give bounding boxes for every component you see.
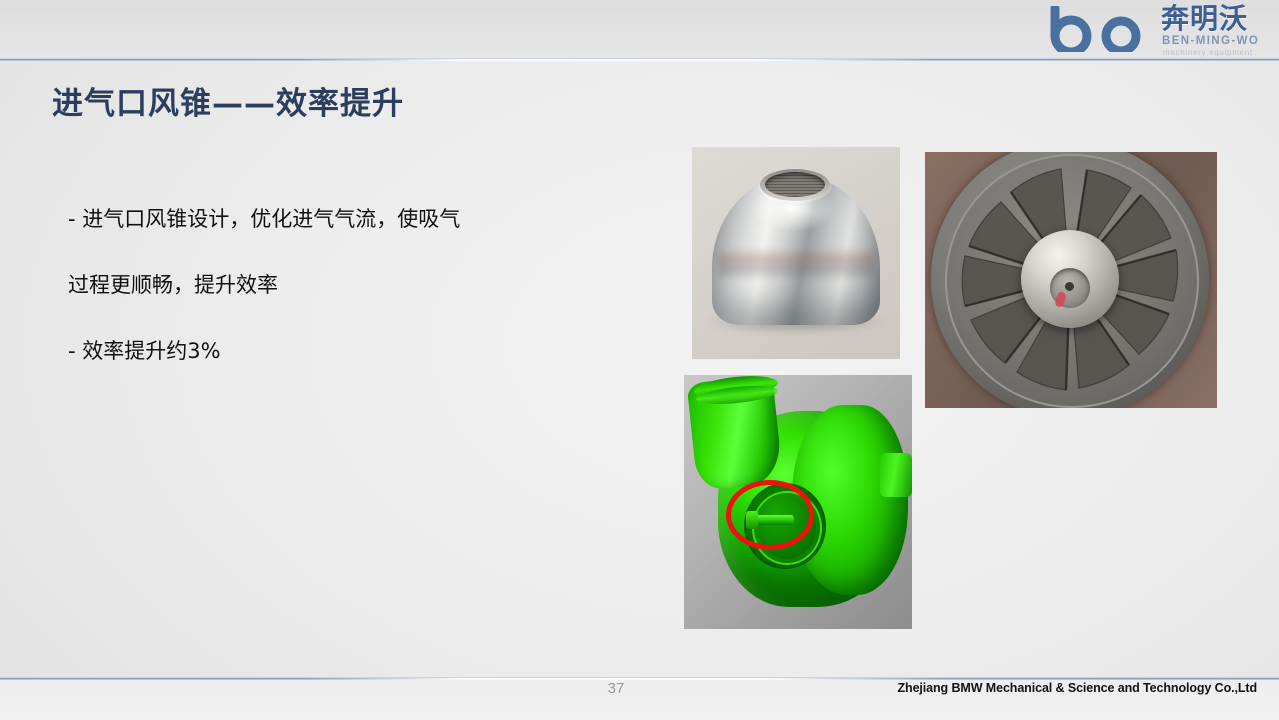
- body-line-2: 过程更顺畅，提升效率: [68, 252, 628, 318]
- slide-canvas: 奔明沃 BEN-MING-WO machinery equipment 进气口风…: [0, 0, 1279, 720]
- page-number: 37: [596, 680, 636, 697]
- body-text-block: - 进气口风锥设计，优化进气气流，使吸气 过程更顺畅，提升效率 - 效率提升约3…: [68, 186, 628, 384]
- red-highlight-ellipse: [726, 480, 814, 550]
- cone-reflection-band: [718, 247, 874, 281]
- body-line-1: - 进气口风锥设计，优化进气气流，使吸气: [68, 186, 628, 252]
- cad-blower-housing-render: [684, 375, 912, 629]
- header-divider-highlight: [300, 59, 940, 61]
- footer-company-name: Zhejiang BMW Mechanical & Science and Te…: [898, 681, 1258, 695]
- company-logo: 奔明沃 BEN-MING-WO machinery equipment: [1049, 4, 1269, 56]
- slide-title: 进气口风锥——效率提升: [52, 78, 404, 123]
- impeller-with-cone-photo: [925, 152, 1217, 408]
- logo-english-name: BEN-MING-WO: [1162, 35, 1259, 47]
- logo-tagline: machinery equipment: [1163, 48, 1253, 57]
- body-line-3: - 效率提升约3%: [68, 318, 628, 384]
- cone-threaded-bore: [765, 172, 825, 197]
- metal-inlet-cone-photo: [692, 147, 900, 359]
- bo-monogram-icon: [1049, 6, 1161, 52]
- impeller-center-hole: [1065, 282, 1074, 291]
- logo-chinese-name: 奔明沃: [1161, 4, 1248, 34]
- shaft-boss: [880, 453, 912, 497]
